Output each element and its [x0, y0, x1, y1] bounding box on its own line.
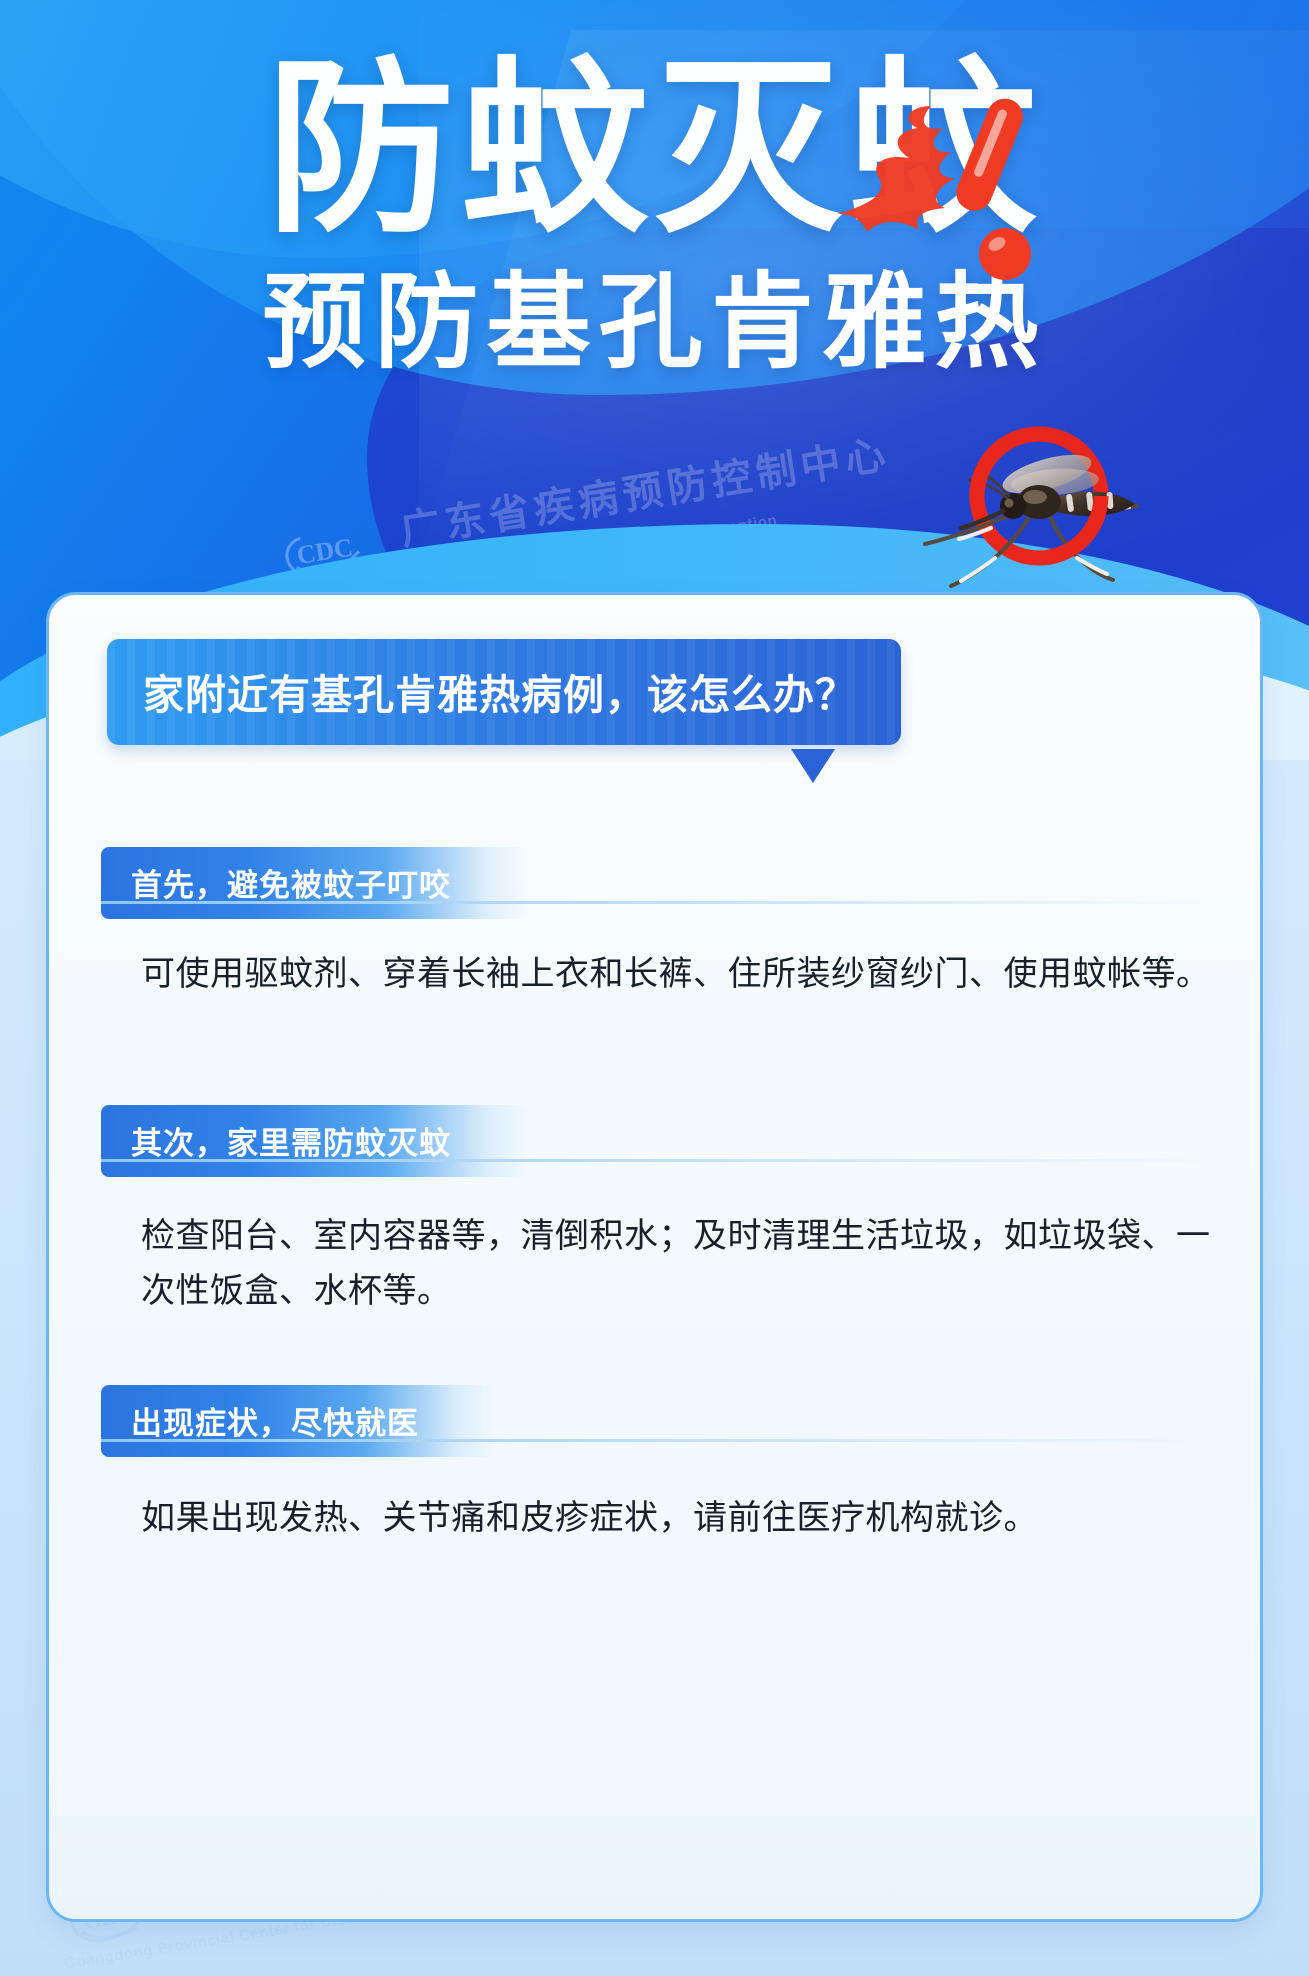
- question-banner-tail: [791, 749, 835, 783]
- section-2-heading: 其次，家里需防蚊灭蚊: [101, 1105, 529, 1177]
- mosquito-prohibition-icon: [899, 418, 1149, 618]
- content-card: 家附近有基孔肯雅热病例，该怎么办？ 首先，避免被蚊子叮咬 可使用驱蚊剂、穿着长袖…: [46, 592, 1263, 1922]
- poster-title-text: 防蚊灭蚊: [267, 44, 1043, 254]
- question-banner: 家附近有基孔肯雅热病例，该怎么办？: [107, 639, 901, 745]
- section-3-divider: [101, 1439, 1211, 1442]
- section-3-body: 如果出现发热、关节痛和皮疹症状，请前往医疗机构就诊。: [141, 1491, 1231, 1546]
- card-bottom-fade: [49, 1749, 1260, 1919]
- section-1-heading-row: 首先，避免被蚊子叮咬: [49, 847, 1260, 919]
- title-block: 防蚊灭蚊 预防基孔肯雅热: [0, 52, 1309, 380]
- section-3-heading-row: 出现症状，尽快就医: [49, 1385, 1260, 1457]
- section-3-heading: 出现症状，尽快就医: [101, 1385, 497, 1457]
- section-1-body: 可使用驱蚊剂、穿着长袖上衣和长裤、住所装纱窗纱门、使用蚊帐等。: [141, 947, 1231, 1002]
- section-1-divider: [101, 901, 1211, 904]
- section-2-heading-row: 其次，家里需防蚊灭蚊: [49, 1105, 1260, 1177]
- poster-title: 防蚊灭蚊: [267, 52, 1043, 248]
- section-2-body: 检查阳台、室内容器等，清倒积水；及时清理生活垃圾，如垃圾袋、一次性饭盒、水杯等。: [141, 1209, 1231, 1319]
- poster-root: CDC 广东省疾病预防控制中心 Guangdong Provincial Cen…: [0, 0, 1309, 1976]
- section-2-divider: [101, 1159, 1211, 1162]
- question-text: 家附近有基孔肯雅热病例，该怎么办？: [143, 672, 857, 718]
- poster-subtitle: 预防基孔肯雅热: [0, 266, 1309, 380]
- section-1-heading: 首先，避免被蚊子叮咬: [101, 847, 529, 919]
